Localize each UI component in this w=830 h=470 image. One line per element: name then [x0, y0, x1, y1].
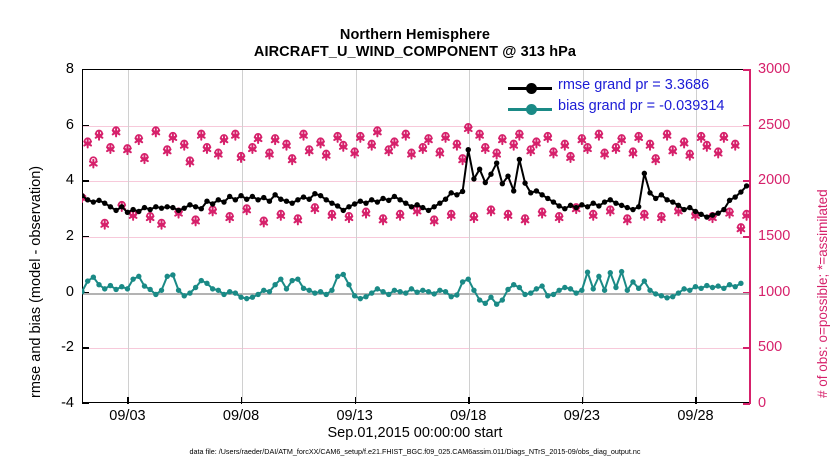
x-axis-label: Sep.01,2015 00:00:00 start — [0, 425, 830, 441]
gridline-horizontal — [83, 126, 749, 127]
x-tick-label: 09/13 — [310, 408, 400, 424]
x-tick-label: 09/18 — [423, 408, 513, 424]
x-tick-label: 09/03 — [82, 408, 172, 424]
y-tick-label-right: 2000 — [758, 172, 818, 188]
y-tick-label-right: 500 — [758, 339, 818, 355]
tick-mark-left — [82, 125, 89, 126]
tick-mark-x — [695, 397, 696, 404]
tick-mark-right — [743, 403, 750, 405]
data-file-note: data file: /Users/raeder/DAI/ATM_forcXX/… — [0, 447, 830, 456]
tick-mark-left — [82, 69, 89, 70]
gridline-horizontal — [83, 181, 749, 182]
legend-marker-rmse — [526, 83, 537, 94]
tick-mark-x — [582, 397, 583, 404]
legend-label-bias: bias grand pr = -0.039314 — [558, 98, 724, 114]
gridline-vertical — [128, 70, 129, 402]
y-axis-label-right: # of obs: o=possible; *=assimilated — [815, 189, 830, 398]
gridline-vertical — [356, 70, 357, 402]
x-tick-label: 09/28 — [650, 408, 740, 424]
tick-mark-x — [355, 397, 356, 404]
tick-mark-x — [127, 397, 128, 404]
y-axis-label-left: rmse and bias (model - observation) — [28, 166, 44, 398]
y-tick-label-left: -2 — [14, 339, 74, 355]
y-tick-label-right: 0 — [758, 395, 818, 411]
y-tick-label-left: 6 — [14, 117, 74, 133]
tick-mark-left — [82, 347, 89, 348]
y-tick-label-left: 4 — [14, 172, 74, 188]
y-tick-label-right: 2500 — [758, 117, 818, 133]
tick-mark-x — [468, 397, 469, 404]
gridline-vertical — [469, 70, 470, 402]
legend-item-bias: bias grand pr = -0.039314 — [508, 99, 748, 120]
y-tick-label-right: 1000 — [758, 284, 818, 300]
x-tick-label: 09/08 — [196, 408, 286, 424]
gridline-horizontal — [83, 348, 749, 349]
y-tick-label-left: 0 — [14, 284, 74, 300]
tick-mark-left — [82, 403, 89, 404]
tick-mark-right — [743, 236, 750, 238]
tick-mark-right — [743, 125, 750, 127]
y-tick-label-left: 2 — [14, 228, 74, 244]
tick-mark-right — [743, 69, 750, 71]
zero-reference-line — [83, 293, 749, 295]
legend-marker-bias — [526, 104, 537, 115]
tick-mark-left — [82, 180, 89, 181]
tick-mark-left — [82, 236, 89, 237]
tick-mark-left — [82, 292, 89, 293]
gridline-vertical — [242, 70, 243, 402]
legend-item-rmse: rmse grand pr = 3.3686 — [508, 78, 748, 99]
y-tick-label-left: -4 — [14, 395, 74, 411]
y-tick-label-right: 1500 — [758, 228, 818, 244]
tick-mark-right — [743, 292, 750, 294]
tick-mark-right — [743, 180, 750, 182]
chart-title-line1: Northern Hemisphere — [0, 27, 830, 43]
gridline-horizontal — [83, 237, 749, 238]
legend: rmse grand pr = 3.3686 bias grand pr = -… — [508, 78, 748, 120]
y-tick-label-right: 3000 — [758, 61, 818, 77]
x-tick-label: 09/23 — [537, 408, 627, 424]
y-tick-label-left: 8 — [14, 61, 74, 77]
tick-mark-x — [241, 397, 242, 404]
tick-mark-right — [743, 347, 750, 349]
chart-title-line2: AIRCRAFT_U_WIND_COMPONENT @ 313 hPa — [0, 44, 830, 60]
legend-label-rmse: rmse grand pr = 3.3686 — [558, 77, 709, 93]
